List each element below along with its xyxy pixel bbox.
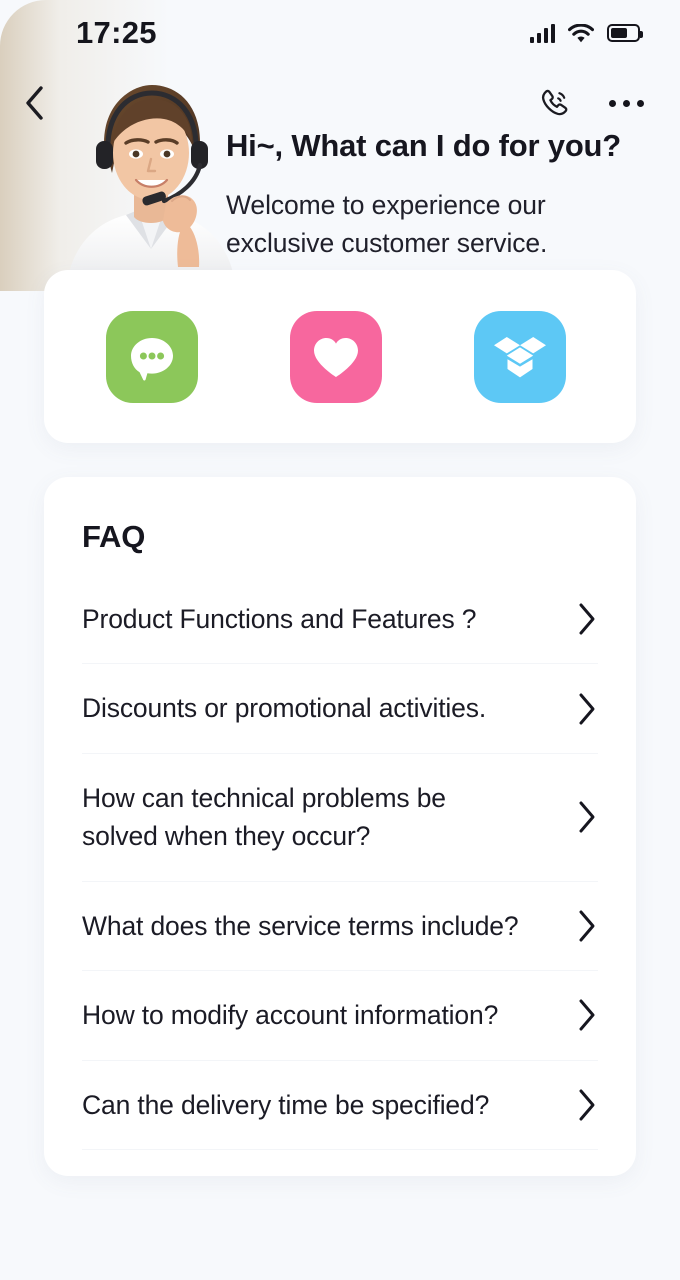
- faq-item[interactable]: What does the service terms include?: [82, 882, 598, 971]
- faq-question: Discounts or promotional activities.: [82, 689, 486, 727]
- chevron-right-icon: [576, 1088, 598, 1122]
- battery-icon: [607, 24, 640, 42]
- status-icons: [530, 24, 641, 43]
- chat-entry[interactable]: [106, 311, 198, 403]
- open-box-icon: [491, 328, 549, 386]
- faq-question: How can technical problems be solved whe…: [82, 779, 522, 856]
- hero-text-block: Hi~, What can I do for you? Welcome to e…: [226, 128, 646, 263]
- more-options-icon: [607, 92, 646, 115]
- back-chevron-icon: [22, 84, 48, 122]
- faq-question: What does the service terms include?: [82, 907, 518, 945]
- faq-item[interactable]: Product Functions and Features ?: [82, 575, 598, 664]
- wifi-icon: [568, 24, 594, 43]
- phone-screen: Hi~, What can I do for you? Welcome to e…: [0, 0, 680, 1280]
- phone-call-icon: [535, 84, 573, 122]
- faq-item[interactable]: How to modify account information?: [82, 971, 598, 1060]
- faq-question: Can the delivery time be specified?: [82, 1086, 489, 1124]
- chevron-right-icon: [576, 602, 598, 636]
- orders-entry[interactable]: [474, 311, 566, 403]
- faq-title: FAQ: [44, 519, 636, 555]
- faq-card: FAQ Product Functions and Features ? Dis…: [44, 477, 636, 1176]
- call-button[interactable]: [535, 84, 573, 122]
- faq-question: Product Functions and Features ?: [82, 600, 476, 638]
- chevron-right-icon: [576, 909, 598, 943]
- favorites-entry[interactable]: [290, 311, 382, 403]
- quick-entry-card: [44, 270, 636, 443]
- status-time: 17:25: [76, 15, 157, 51]
- faq-item[interactable]: How can technical problems be solved whe…: [82, 754, 598, 882]
- cellular-signal-icon: [530, 24, 556, 43]
- back-button[interactable]: [22, 84, 48, 122]
- nav-bar: [0, 72, 680, 134]
- faq-list: Product Functions and Features ? Discoun…: [44, 575, 636, 1150]
- chevron-right-icon: [576, 692, 598, 726]
- status-bar: 17:25: [0, 0, 680, 66]
- faq-item[interactable]: Discounts or promotional activities.: [82, 664, 598, 753]
- chevron-right-icon: [576, 800, 598, 834]
- more-options-button[interactable]: [607, 92, 646, 115]
- chat-bubble-icon: [124, 329, 180, 385]
- chevron-right-icon: [576, 998, 598, 1032]
- faq-question: How to modify account information?: [82, 996, 498, 1034]
- hero-subtitle: Welcome to experience our exclusive cust…: [226, 186, 646, 263]
- faq-item[interactable]: Can the delivery time be specified?: [82, 1061, 598, 1150]
- heart-icon: [309, 330, 363, 384]
